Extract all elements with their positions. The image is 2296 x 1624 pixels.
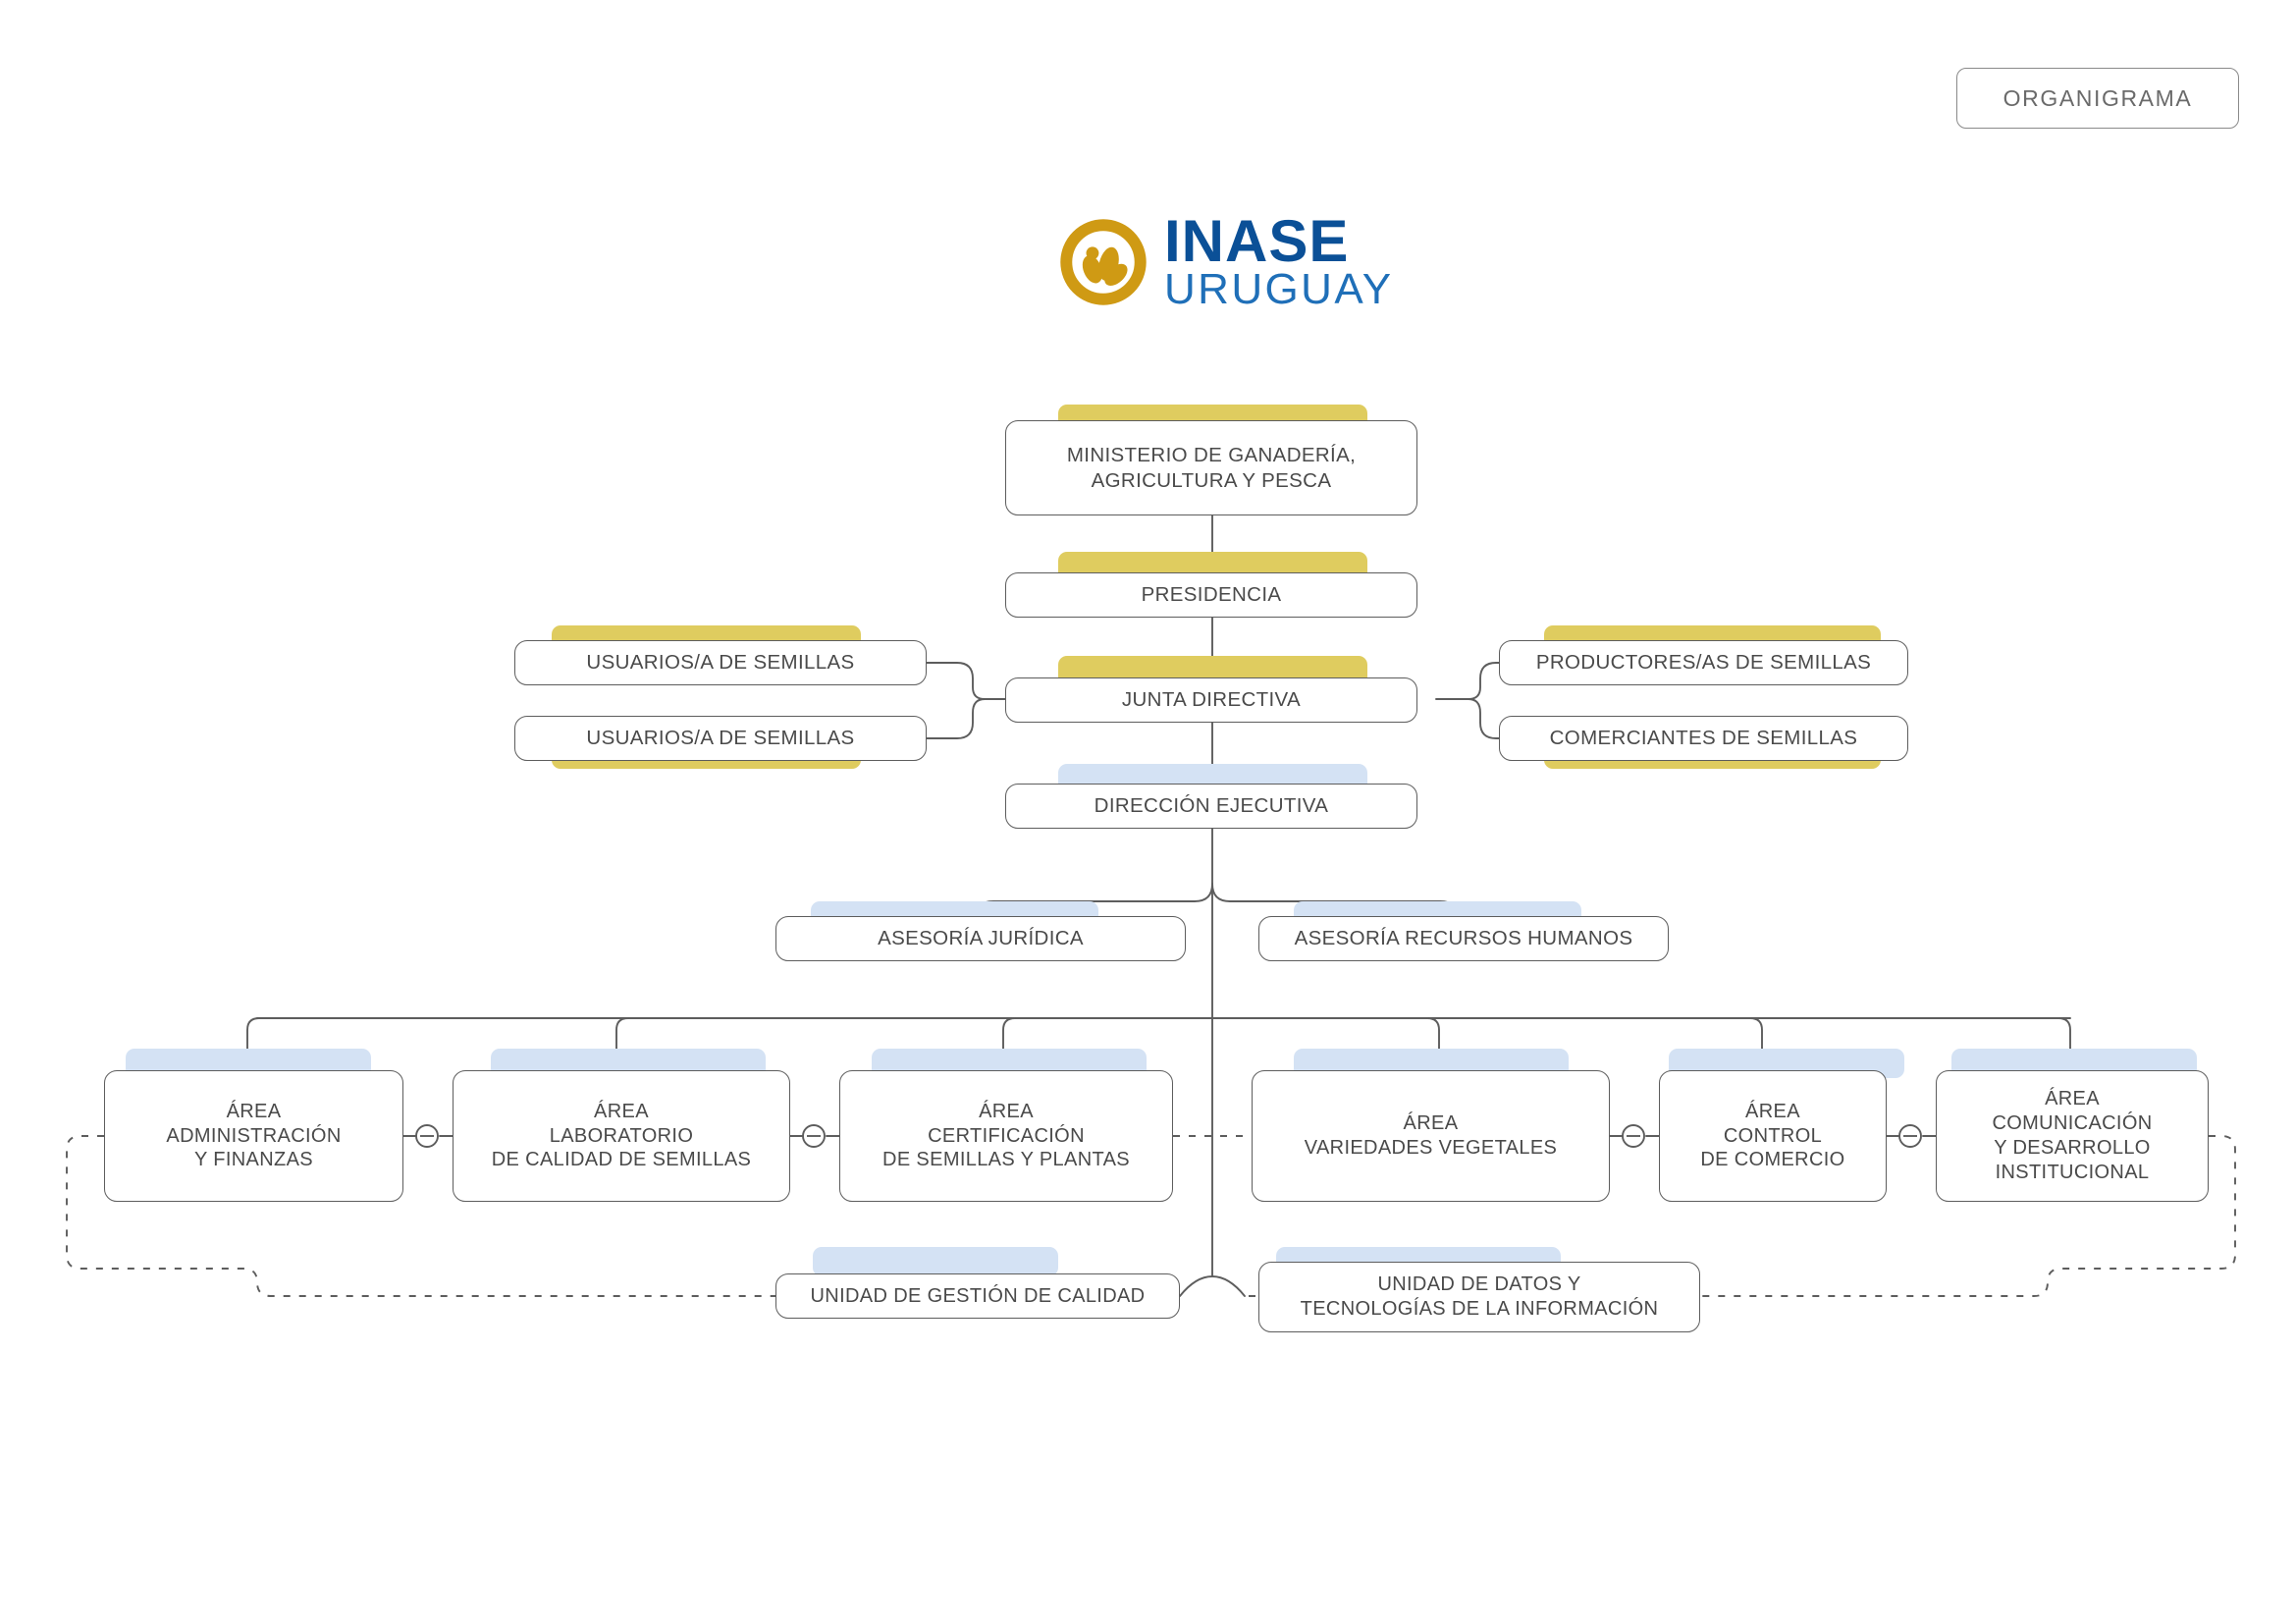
node-area-administracion-finanzas[interactable]: ÁREA ADMINISTRACIÓN Y FINANZAS <box>104 1070 403 1202</box>
node-usuarios-semillas-2[interactable]: USUARIOS/A DE SEMILLAS <box>514 716 927 761</box>
node-productores-semillas[interactable]: PRODUCTORES/AS DE SEMILLAS <box>1499 640 1908 685</box>
node-usuarios2-label: USUARIOS/A DE SEMILLAS <box>586 726 854 750</box>
node-productores-label: PRODUCTORES/AS DE SEMILLAS <box>1536 650 1871 675</box>
node-lab-line1: ÁREA <box>594 1101 649 1122</box>
node-control-line1: ÁREA <box>1745 1101 1800 1122</box>
node-cert-line1: ÁREA <box>979 1101 1034 1122</box>
node-comunicacion-line2: COMUNICACIÓN <box>1992 1112 2152 1134</box>
node-calidad-label: UNIDAD DE GESTIÓN DE CALIDAD <box>811 1284 1146 1309</box>
node-lab-line2: LABORATORIO <box>550 1125 693 1147</box>
node-area-laboratorio-calidad-semillas[interactable]: ÁREA LABORATORIO DE CALIDAD DE SEMILLAS <box>453 1070 790 1202</box>
node-area-comunicacion-desarrollo-institucional[interactable]: ÁREA COMUNICACIÓN Y DESARROLLO INSTITUCI… <box>1936 1070 2209 1202</box>
spine-hop-arc <box>1180 1276 1245 1296</box>
inase-logo: INASE URUGUAY <box>1058 214 1394 310</box>
node-usuarios1-label: USUARIOS/A DE SEMILLAS <box>586 650 854 675</box>
link-glyph-control-comunicacion <box>1899 1125 1921 1147</box>
node-area-control-comercio[interactable]: ÁREA CONTROL DE COMERCIO <box>1659 1070 1887 1202</box>
node-area-variedades-vegetales[interactable]: ÁREA VARIEDADES VEGETALES <box>1252 1070 1610 1202</box>
node-cert-line2: CERTIFICACIÓN <box>928 1125 1085 1147</box>
node-presidencia[interactable]: PRESIDENCIA <box>1005 572 1417 618</box>
node-cert-line3: DE SEMILLAS Y PLANTAS <box>882 1149 1130 1170</box>
node-juridica-label: ASESORÍA JURÍDICA <box>878 926 1084 950</box>
node-ministerio-line2: AGRICULTURA Y PESCA <box>1092 469 1332 492</box>
node-area-certificacion-semillas-plantas[interactable]: ÁREA CERTIFICACIÓN DE SEMILLAS Y PLANTAS <box>839 1070 1173 1202</box>
node-comunicacion-line3: Y DESARROLLO <box>1994 1137 2150 1159</box>
node-asesoria-juridica[interactable]: ASESORÍA JURÍDICA <box>775 916 1186 961</box>
node-control-line3: DE COMERCIO <box>1700 1149 1844 1170</box>
logo-primary-text: INASE <box>1164 214 1394 268</box>
node-junta-directiva[interactable]: JUNTA DIRECTIVA <box>1005 677 1417 723</box>
node-variedades-line2: VARIEDADES VEGETALES <box>1305 1137 1557 1159</box>
node-comunicacion-line1: ÁREA <box>2045 1088 2100 1110</box>
node-comerciantes-label: COMERCIANTES DE SEMILLAS <box>1550 726 1858 750</box>
edge-usuarios1-junta <box>927 663 985 699</box>
node-rrhh-label: ASESORÍA RECURSOS HUMANOS <box>1295 926 1633 950</box>
link-glyph-lab-cert <box>803 1125 825 1147</box>
link-glyph-var-control <box>1623 1125 1644 1147</box>
node-junta-label: JUNTA DIRECTIVA <box>1122 687 1301 712</box>
node-datos-line1: UNIDAD DE DATOS Y <box>1377 1273 1580 1295</box>
logo-secondary-text: URUGUAY <box>1164 270 1394 309</box>
node-adm-line3: Y FINANZAS <box>194 1149 313 1170</box>
node-variedades-line1: ÁREA <box>1404 1112 1459 1134</box>
node-control-line2: CONTROL <box>1724 1125 1822 1147</box>
node-ministerio-line1: MINISTERIO DE GANADERÍA, <box>1067 444 1356 466</box>
seed-leaf-circle-icon <box>1058 217 1148 307</box>
edge-usuarios2-junta <box>927 699 985 738</box>
node-usuarios-semillas-1[interactable]: USUARIOS/A DE SEMILLAS <box>514 640 927 685</box>
node-adm-line2: ADMINISTRACIÓN <box>166 1125 341 1147</box>
link-glyph-adm-lab <box>416 1125 438 1147</box>
node-unidad-datos-tecnologias[interactable]: UNIDAD DE DATOS Y TECNOLOGÍAS DE LA INFO… <box>1258 1262 1700 1332</box>
node-adm-line1: ÁREA <box>227 1101 282 1122</box>
drop-corner-adm <box>257 1018 267 1028</box>
node-asesoria-recursos-humanos[interactable]: ASESORÍA RECURSOS HUMANOS <box>1258 916 1669 961</box>
node-comunicacion-line4: INSTITUCIONAL <box>1996 1162 2150 1183</box>
organigrama-badge: ORGANIGRAMA <box>1956 68 2239 129</box>
tab-calidad <box>813 1247 1058 1276</box>
organigrama-page: ORGANIGRAMA INASE URUGUAY <box>0 0 2296 1624</box>
logo-wordmark: INASE URUGUAY <box>1164 214 1394 310</box>
node-direccion-label: DIRECCIÓN EJECUTIVA <box>1095 793 1329 818</box>
organigrama-badge-label: ORGANIGRAMA <box>2003 85 2193 112</box>
node-datos-line2: TECNOLOGÍAS DE LA INFORMACIÓN <box>1301 1298 1659 1320</box>
node-unidad-gestion-calidad[interactable]: UNIDAD DE GESTIÓN DE CALIDAD <box>775 1273 1180 1319</box>
node-direccion-ejecutiva[interactable]: DIRECCIÓN EJECUTIVA <box>1005 784 1417 829</box>
node-comerciantes-semillas[interactable]: COMERCIANTES DE SEMILLAS <box>1499 716 1908 761</box>
node-presidencia-label: PRESIDENCIA <box>1142 582 1282 607</box>
node-lab-line3: DE CALIDAD DE SEMILLAS <box>492 1149 751 1170</box>
node-ministerio[interactable]: MINISTERIO DE GANADERÍA, AGRICULTURA Y P… <box>1005 420 1417 515</box>
